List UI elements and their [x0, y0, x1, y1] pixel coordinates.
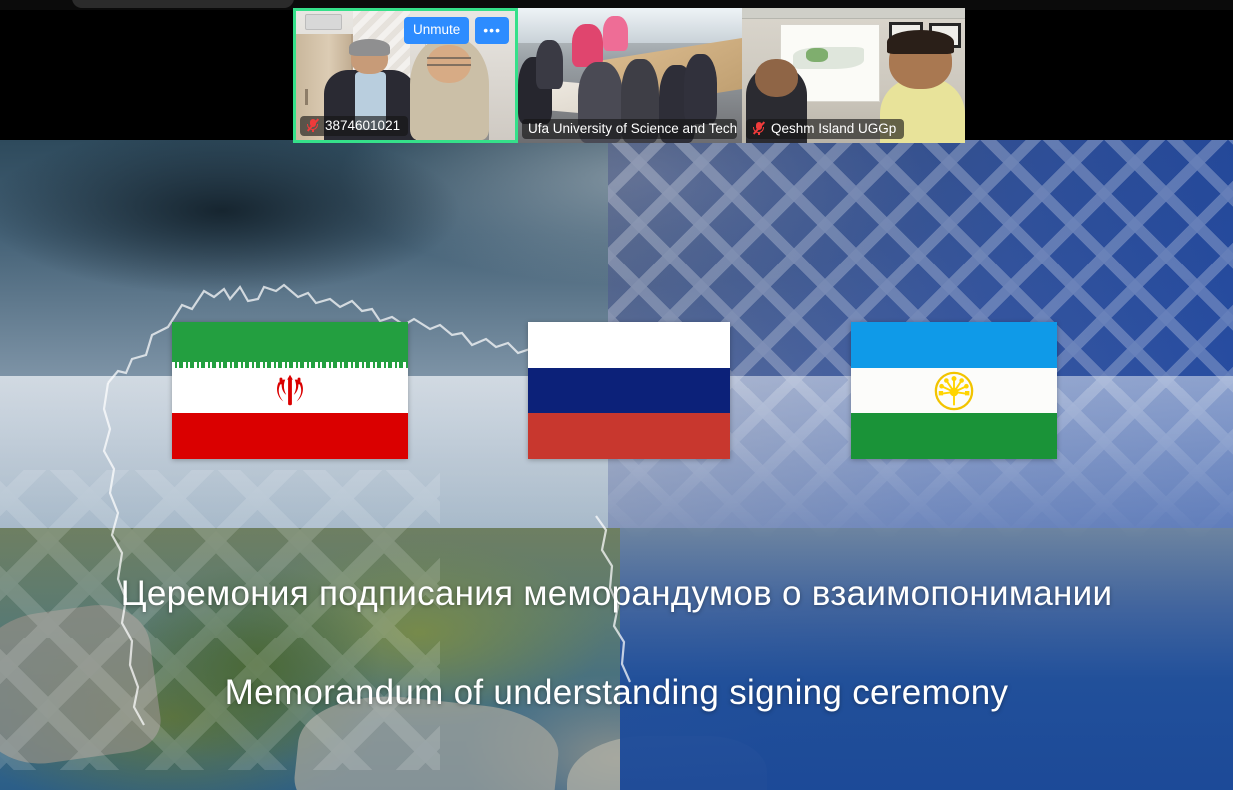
participant-name-badge-3: Qeshm Island UGGp — [746, 119, 904, 139]
flag-russia-stripe-white — [528, 322, 730, 368]
video-tile-participant-2[interactable]: Ufa University of Science and Techn… — [518, 8, 742, 143]
participant-name-badge-2: Ufa University of Science and Techn… — [522, 119, 737, 139]
person-dark-6 — [684, 54, 718, 124]
flag-iran-kufic-bottom — [172, 414, 408, 423]
decor-cabinet-handle — [305, 89, 308, 105]
participant-name-badge-1: 3874601021 — [300, 116, 408, 136]
flag-russia — [528, 322, 730, 459]
video-filmstrip: Unmute ••• 3874601021 Ufa University of … — [293, 8, 965, 143]
decor-window — [518, 8, 742, 43]
flag-bashkortostan — [851, 322, 1057, 459]
slide-title-russian: Церемония подписания меморандумов о взаи… — [0, 574, 1233, 614]
participant-name-2: Ufa University of Science and Techn… — [528, 121, 737, 136]
decor-poster-map — [793, 47, 864, 70]
flag-iran — [172, 322, 408, 459]
flag-iran-stripe-green — [172, 322, 408, 368]
iran-emblem-icon — [269, 371, 311, 411]
person-dark-2 — [536, 40, 563, 89]
decor-poster-green-area — [806, 48, 828, 62]
person-pink-1 — [572, 24, 603, 67]
person-1-hair — [349, 39, 391, 56]
mic-muted-icon — [306, 118, 319, 133]
video-tile-participant-1[interactable]: Unmute ••• 3874601021 — [293, 8, 518, 143]
person-4-hair — [887, 30, 954, 54]
participant-name-3: Qeshm Island UGGp — [771, 121, 896, 136]
person-3-head — [755, 59, 797, 97]
more-options-button[interactable]: ••• — [475, 17, 509, 44]
unmute-button[interactable]: Unmute — [404, 17, 469, 44]
tile-actions-1: Unmute ••• — [404, 17, 509, 44]
decor-box — [305, 14, 342, 31]
flag-bashkir-stripe-blue — [851, 322, 1057, 368]
video-tile-participant-3[interactable]: Qeshm Island UGGp — [742, 8, 965, 143]
participant-name-1: 3874601021 — [325, 118, 400, 133]
kurai-flower-icon — [933, 370, 975, 412]
flag-russia-stripe-red — [528, 413, 730, 459]
person-2-glasses — [427, 57, 471, 66]
decor-ceiling — [742, 8, 965, 19]
flag-bashkir-stripe-green — [851, 413, 1057, 459]
slide-title-english: Memorandum of understanding signing cere… — [0, 673, 1233, 713]
flag-russia-stripe-blue — [528, 368, 730, 414]
mic-muted-icon — [752, 121, 765, 136]
zoom-floating-toolbar[interactable] — [72, 0, 294, 8]
shared-presentation-slide: Церемония подписания меморандумов о взаи… — [0, 140, 1233, 790]
person-pink-2 — [603, 16, 628, 51]
